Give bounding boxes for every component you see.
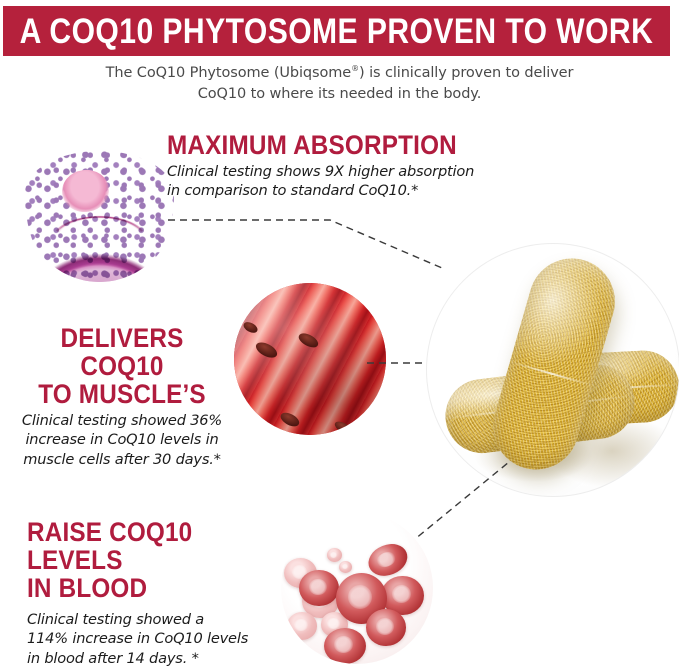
section-muscle-heading: DELIVERS COQ10 TO MUSCLE’S xyxy=(18,324,227,408)
section-blood: RAISE COQ10 LEVELS IN BLOOD Clinical tes… xyxy=(27,518,289,668)
red-blood-cells-image xyxy=(281,512,433,664)
infographic-root: A COQ10 PHYTOSOME PROVEN TO WORK The CoQ… xyxy=(0,0,679,668)
coq10-capsules-image xyxy=(426,243,679,497)
red-blood-cell xyxy=(299,570,339,606)
section-absorption: MAXIMUM ABSORPTION Clinical testing show… xyxy=(167,131,512,201)
red-blood-cell xyxy=(327,548,342,562)
histology-cell-nuclei-field xyxy=(25,151,174,282)
skin-tissue-histology-image xyxy=(22,122,177,282)
section-muscle: DELIVERS COQ10 TO MUSCLE’S Clinical test… xyxy=(6,324,238,469)
muscle-fiber-image xyxy=(234,283,386,435)
red-blood-cell xyxy=(287,612,317,639)
section-blood-heading: RAISE COQ10 LEVELS IN BLOOD xyxy=(27,518,263,602)
muscle-fiber-sheen xyxy=(234,283,386,435)
intro-paragraph: The CoQ10 Phytosome (Ubiqsome®) is clini… xyxy=(0,63,679,106)
section-muscle-body: Clinical testing showed 36% increase in … xyxy=(6,411,238,469)
banner-title: A COQ10 PHYTOSOME PROVEN TO WORK xyxy=(20,14,654,49)
intro-line-2: CoQ10 to where its needed in the body. xyxy=(198,86,481,102)
section-absorption-heading: MAXIMUM ABSORPTION xyxy=(167,131,478,159)
red-blood-cell xyxy=(339,561,353,573)
registered-trademark-icon: ® xyxy=(351,64,359,73)
header-banner: A COQ10 PHYTOSOME PROVEN TO WORK xyxy=(3,6,670,56)
capsule-seam xyxy=(510,360,593,386)
section-blood-body: Clinical testing showed a 114% increase … xyxy=(27,610,289,668)
section-absorption-body: Clinical testing shows 9X higher absorpt… xyxy=(167,162,512,201)
intro-line-1-part-a: The CoQ10 Phytosome (Ubiqsome xyxy=(106,65,351,81)
connector-absorption-to-capsules xyxy=(160,200,450,272)
red-blood-cell xyxy=(324,628,367,664)
intro-line-1-part-b: ) is clinically proven to deliver xyxy=(359,65,573,81)
red-blood-cell xyxy=(366,609,406,645)
